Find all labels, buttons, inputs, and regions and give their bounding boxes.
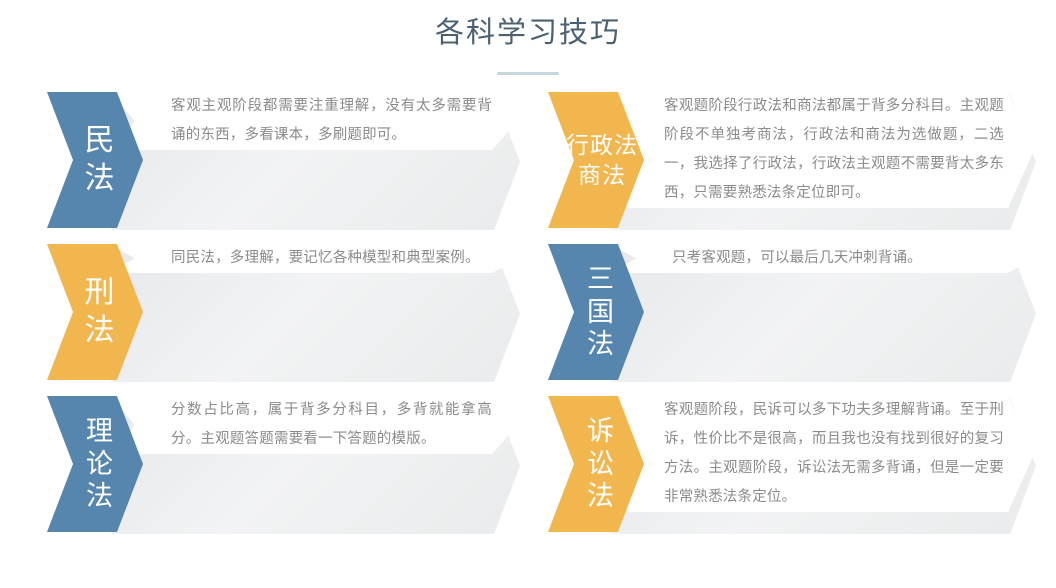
card-body-xingzhengfa-shangfa: 客观题阶段行政法和商法都属于背多分科目。主观题阶段不单独考商法，行政法和商法为选… — [610, 92, 1034, 208]
card-lilunfa[interactable]: 理论法 分数占比高，属于背多分科目，多背就能拿高分。主观题答题需要看一下答题的模… — [47, 396, 518, 532]
card-body-wrap: 客观题阶段，民诉可以多下功夫多理解背诵。至于刑诉，性价比不是很高，而且我也没有找… — [644, 396, 1034, 532]
infographic-page: 各科学习技巧 民法 客观主观阶段都需要注重理解，没有太多需要背诵的东西，多看课本… — [0, 0, 1056, 588]
title-block: 各科学习技巧 — [0, 0, 1056, 75]
cell-sanguofa: 三国法 只考客观题，可以最后几天冲刺背诵。 — [528, 244, 1056, 396]
card-tag-label: 诉讼法 — [574, 415, 628, 512]
card-text: 客观主观阶段都需要注重理解，没有太多需要背诵的东西，多看课本，多刷题即可。 — [109, 92, 518, 150]
card-text: 同民法，多理解，要记忆各种模型和典型案例。 — [109, 244, 506, 273]
cell-minfa: 民法 客观主观阶段都需要注重理解，没有太多需要背诵的东西，多看课本，多刷题即可。 — [0, 92, 528, 244]
card-xingzhengfa-shangfa[interactable]: 行政法商法 客观题阶段行政法和商法都属于背多分科目。主观题阶段不单独考商法，行政… — [548, 92, 1034, 228]
card-tag-label: 理论法 — [73, 415, 127, 512]
card-text: 只考客观题，可以最后几天冲刺背诵。 — [610, 244, 948, 273]
cards-grid: 民法 客观主观阶段都需要注重理解，没有太多需要背诵的东西，多看课本，多刷题即可。… — [0, 92, 1056, 548]
card-xingfa[interactable]: 刑法 同民法，多理解，要记忆各种模型和典型案例。 — [47, 244, 518, 380]
card-text: 分数占比高，属于背多分科目，多背就能拿高分。主观题答题需要看一下答题的模版。 — [109, 396, 518, 454]
card-text: 客观题阶段行政法和商法都属于背多分科目。主观题阶段不单独考商法，行政法和商法为选… — [610, 92, 1034, 208]
card-sanguofa[interactable]: 三国法 只考客观题，可以最后几天冲刺背诵。 — [548, 244, 1034, 380]
cell-xingfa: 刑法 同民法，多理解，要记忆各种模型和典型案例。 — [0, 244, 528, 396]
card-body-wrap: 客观主观阶段都需要注重理解，没有太多需要背诵的东西，多看课本，多刷题即可。 — [143, 92, 518, 228]
card-body-wrap: 客观题阶段行政法和商法都属于背多分科目。主观题阶段不单独考商法，行政法和商法为选… — [644, 92, 1034, 228]
title-underline-rule — [497, 72, 559, 75]
cell-susongfa: 诉讼法 客观题阶段，民诉可以多下功夫多理解背诵。至于刑诉，性价比不是很高，而且我… — [528, 396, 1056, 548]
card-body-wrap: 分数占比高，属于背多分科目，多背就能拿高分。主观题答题需要看一下答题的模版。 — [143, 396, 518, 532]
card-body-xingfa: 同民法，多理解，要记忆各种模型和典型案例。 — [109, 244, 518, 273]
cell-xingzhengfa-shangfa: 行政法商法 客观题阶段行政法和商法都属于背多分科目。主观题阶段不单独考商法，行政… — [528, 92, 1056, 244]
card-tag-label: 行政法商法 — [566, 130, 638, 191]
card-tag-label: 三国法 — [574, 263, 628, 360]
card-body-lilunfa: 分数占比高，属于背多分科目，多背就能拿高分。主观题答题需要看一下答题的模版。 — [109, 396, 518, 454]
card-body-susongfa: 客观题阶段，民诉可以多下功夫多理解背诵。至于刑诉，性价比不是很高，而且我也没有找… — [610, 396, 1034, 512]
card-minfa[interactable]: 民法 客观主观阶段都需要注重理解，没有太多需要背诵的东西，多看课本，多刷题即可。 — [47, 92, 518, 228]
card-body-wrap: 只考客观题，可以最后几天冲刺背诵。 — [644, 244, 1034, 380]
card-susongfa[interactable]: 诉讼法 客观题阶段，民诉可以多下功夫多理解背诵。至于刑诉，性价比不是很高，而且我… — [548, 396, 1034, 532]
card-body-wrap: 同民法，多理解，要记忆各种模型和典型案例。 — [143, 244, 518, 380]
card-body-minfa: 客观主观阶段都需要注重理解，没有太多需要背诵的东西，多看课本，多刷题即可。 — [109, 92, 518, 150]
page-title: 各科学习技巧 — [0, 16, 1056, 51]
cell-lilunfa: 理论法 分数占比高，属于背多分科目，多背就能拿高分。主观题答题需要看一下答题的模… — [0, 396, 528, 548]
card-text: 客观题阶段，民诉可以多下功夫多理解背诵。至于刑诉，性价比不是很高，而且我也没有找… — [610, 396, 1034, 512]
card-body-sanguofa: 只考客观题，可以最后几天冲刺背诵。 — [610, 244, 1034, 273]
card-tag-label: 民法 — [73, 122, 127, 199]
card-tag-label: 刑法 — [73, 274, 127, 351]
